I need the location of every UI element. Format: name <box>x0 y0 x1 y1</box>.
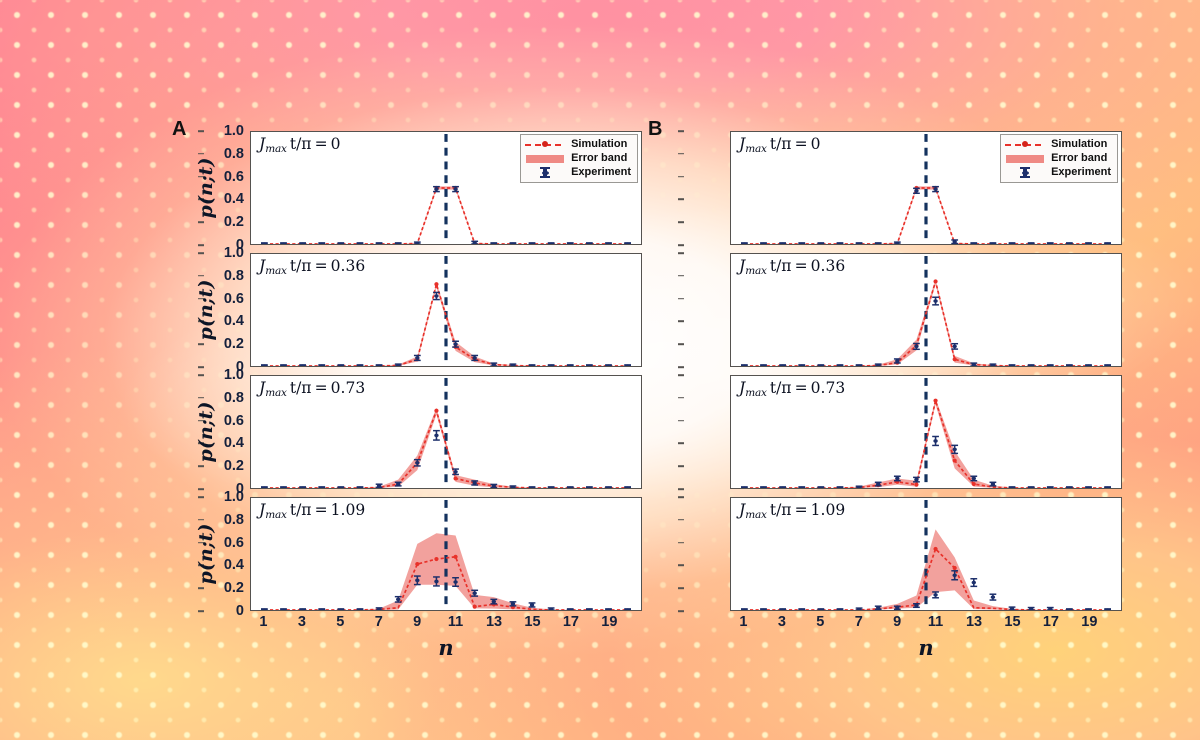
experiment-point <box>605 486 612 488</box>
x-tick-label: 7 <box>855 614 863 630</box>
legend-key-dashed-line-marker <box>525 139 565 150</box>
experiment-point <box>490 242 497 244</box>
experiment-point <box>433 431 440 440</box>
y-tick-label: 0.6 <box>224 291 244 307</box>
x-axis-ticks: 135791113151719 <box>730 611 1122 637</box>
legend-label: Simulation <box>1051 139 1107 150</box>
x-tick-label: 5 <box>336 614 344 630</box>
experiment-point <box>913 477 920 481</box>
experiment-point <box>951 240 958 244</box>
simulation-marker <box>453 476 457 480</box>
experiment-point <box>337 608 344 610</box>
y-axis-label: p(n;t) <box>195 250 217 370</box>
experiment-point <box>741 486 748 488</box>
experiment-point <box>529 364 536 366</box>
experiment-point <box>605 364 612 366</box>
experiment-point <box>856 242 863 244</box>
experiment-point <box>990 242 997 244</box>
experiment-point <box>1066 486 1073 488</box>
y-tick-mark <box>678 397 684 399</box>
panel-column-a: Jmax t/π = 01.00.80.60.40.20p(n;t)Simula… <box>250 131 642 611</box>
y-tick-label: 0 <box>236 603 244 619</box>
experiment-point <box>798 486 805 488</box>
experiment-point <box>1009 486 1016 488</box>
y-tick-label: 0.2 <box>224 336 244 352</box>
experiment-point <box>856 364 863 366</box>
experiment-point <box>548 608 555 610</box>
experiment-point <box>894 476 901 480</box>
simulation-marker <box>953 357 957 361</box>
plot-panel: Jmax t/π = 1.09135791113151719n <box>730 497 1122 611</box>
experiment-point <box>1104 242 1111 244</box>
y-tick-label: 0.2 <box>224 458 244 474</box>
experiment-point <box>337 242 344 244</box>
simulation-marker <box>933 547 937 551</box>
figure-container: A B Jmax t/π = 01.00.80.60.40.20p(n;t)Si… <box>0 0 1200 740</box>
y-tick-mark <box>678 298 684 300</box>
experiment-point <box>567 608 574 610</box>
plot-panel: Jmax t/π = 0SimulationError bandExperime… <box>730 131 1122 245</box>
simulation-marker <box>953 458 957 462</box>
experiment-point <box>624 364 631 366</box>
experiment-point <box>586 364 593 366</box>
experiment-point <box>741 242 748 244</box>
experiment-point <box>970 579 977 587</box>
y-axis-ticks <box>684 253 730 367</box>
plot-axes: Jmax t/π = 0.36 <box>730 253 1122 367</box>
experiment-point <box>357 242 364 244</box>
legend-key-filled-band <box>1005 153 1045 164</box>
x-axis-ticks: 135791113151719 <box>250 611 642 637</box>
experiment-point <box>529 603 536 607</box>
y-axis-ticks <box>684 375 730 489</box>
experiment-point <box>376 242 383 244</box>
legend-label: Error band <box>571 153 627 164</box>
x-tick-label: 19 <box>601 614 617 630</box>
experiment-point <box>875 242 882 244</box>
experiment-point <box>798 364 805 366</box>
experiment-point <box>261 364 268 366</box>
experiment-point <box>1028 364 1035 366</box>
experiment-point <box>357 364 364 366</box>
panel-annotation: Jmax t/π = 0.73 <box>259 379 365 399</box>
simulation-marker <box>434 409 438 413</box>
plot-axes: Jmax t/π = 0.36 <box>250 253 642 367</box>
y-tick-mark <box>678 343 684 345</box>
simulation-marker <box>434 282 438 286</box>
experiment-point <box>357 608 364 610</box>
experiment-point <box>1047 364 1054 366</box>
experiment-point <box>798 242 805 244</box>
experiment-point <box>299 242 306 244</box>
experiment-point <box>1047 486 1054 488</box>
legend-entry: Experiment <box>525 166 631 179</box>
y-tick-label: 0.6 <box>224 535 244 551</box>
x-tick-label: 11 <box>448 614 463 630</box>
simulation-marker <box>914 483 918 487</box>
x-tick-label: 17 <box>1043 614 1059 630</box>
experiment-point <box>1009 364 1016 366</box>
plot-panel: Jmax t/π = 0.36 <box>730 253 1122 367</box>
experiment-point <box>817 364 824 366</box>
y-tick-mark <box>678 610 684 612</box>
x-tick-label: 15 <box>1004 614 1020 630</box>
experiment-point <box>586 242 593 244</box>
y-axis-label: p(n;t) <box>195 372 217 492</box>
experiment-point <box>529 486 536 488</box>
y-tick-label: 0.6 <box>224 413 244 429</box>
legend-entry: Simulation <box>525 138 631 151</box>
y-tick-label: 0.4 <box>224 435 244 451</box>
plot-panel: Jmax t/π = 1.091.00.80.60.40.20p(n;t)135… <box>250 497 642 611</box>
experiment-point <box>779 242 786 244</box>
experiment-point <box>856 608 863 610</box>
y-tick-mark <box>678 420 684 422</box>
y-tick-mark <box>678 321 684 323</box>
experiment-point <box>990 482 997 486</box>
simulation-marker <box>415 562 419 566</box>
legend-label: Error band <box>1051 153 1107 164</box>
y-tick-label: 1.0 <box>224 245 244 261</box>
panel-annotation: Jmax t/π = 0 <box>739 135 821 155</box>
legend-key-errorbar-marker <box>1005 167 1045 178</box>
y-tick-label: 0.4 <box>224 557 244 573</box>
legend-key-errorbar-marker <box>525 167 565 178</box>
simulation-marker <box>434 557 438 561</box>
experiment-point <box>318 486 325 488</box>
experiment-point <box>1028 242 1035 244</box>
experiment-point <box>299 486 306 488</box>
y-tick-mark <box>678 176 684 178</box>
experiment-point <box>1047 607 1054 610</box>
legend-key-dashed-line-marker <box>1005 139 1045 150</box>
x-tick-label: 9 <box>413 614 421 630</box>
legend-entry: Experiment <box>1005 166 1111 179</box>
experiment-point <box>837 242 844 244</box>
y-tick-label: 1.0 <box>224 367 244 383</box>
y-tick-label: 1.0 <box>224 123 244 139</box>
panel-label-a: A <box>172 118 186 141</box>
y-tick-mark <box>678 221 684 223</box>
chart-legend: SimulationError bandExperiment <box>520 134 638 183</box>
panel-label-b: B <box>648 118 662 141</box>
experiment-point <box>471 241 478 244</box>
experiment-point <box>605 242 612 244</box>
experiment-point <box>760 364 767 366</box>
x-tick-label: 1 <box>259 614 267 630</box>
experiment-point <box>1085 242 1092 244</box>
experiment-point <box>837 608 844 610</box>
experiment-point <box>856 486 863 488</box>
y-tick-mark <box>678 275 684 277</box>
experiment-point <box>1104 608 1111 610</box>
legend-label: Experiment <box>1051 167 1111 178</box>
experiment-point <box>567 242 574 244</box>
x-tick-label: 1 <box>739 614 747 630</box>
panel-annotation: Jmax t/π = 0.73 <box>739 379 845 399</box>
experiment-point <box>837 364 844 366</box>
experiment-point <box>261 486 268 488</box>
x-tick-label: 19 <box>1081 614 1097 630</box>
experiment-point <box>567 364 574 366</box>
y-tick-mark <box>678 374 684 376</box>
experiment-point <box>548 486 555 488</box>
y-axis-label: p(n;t) <box>195 128 217 248</box>
y-tick-mark <box>678 488 684 490</box>
experiment-point <box>1104 364 1111 366</box>
experiment-point <box>337 486 344 488</box>
x-tick-label: 7 <box>375 614 383 630</box>
panel-annotation: Jmax t/π = 0.36 <box>739 257 845 277</box>
y-tick-label: 0.8 <box>224 268 244 284</box>
experiment-point <box>970 242 977 244</box>
experiment-point <box>1066 608 1073 610</box>
plot-panel: Jmax t/π = 0.73 <box>730 375 1122 489</box>
simulation-marker <box>933 399 937 403</box>
y-tick-label: 1.0 <box>224 489 244 505</box>
chart-legend: SimulationError bandExperiment <box>1000 134 1118 183</box>
legend-label: Simulation <box>571 139 627 150</box>
x-tick-label: 3 <box>778 614 786 630</box>
legend-label: Experiment <box>571 167 631 178</box>
plot-axes: Jmax t/π = 1.09 <box>250 497 642 611</box>
y-tick-label: 0.4 <box>224 313 244 329</box>
y-tick-mark <box>678 130 684 132</box>
simulation-marker <box>473 605 477 609</box>
y-tick-mark <box>678 366 684 368</box>
y-axis-ticks <box>684 497 730 611</box>
experiment-point <box>1085 608 1092 610</box>
y-axis-label: p(n;t) <box>195 494 217 614</box>
x-tick-label: 17 <box>563 614 579 630</box>
experiment-point <box>760 608 767 610</box>
simulation-marker <box>933 279 937 283</box>
panel-annotation: Jmax t/π = 1.09 <box>739 501 845 521</box>
y-tick-mark <box>678 465 684 467</box>
experiment-point <box>318 364 325 366</box>
experiment-point <box>1085 486 1092 488</box>
experiment-point <box>798 608 805 610</box>
experiment-point <box>567 486 574 488</box>
experiment-point <box>624 242 631 244</box>
simulation-marker <box>453 555 457 559</box>
experiment-point <box>280 608 287 610</box>
x-tick-label: 11 <box>928 614 943 630</box>
experiment-point <box>817 486 824 488</box>
experiment-point <box>779 364 786 366</box>
experiment-point <box>318 242 325 244</box>
experiment-point <box>261 242 268 244</box>
experiment-point <box>318 608 325 610</box>
experiment-point <box>760 242 767 244</box>
experiment-point <box>586 486 593 488</box>
y-tick-mark <box>678 496 684 498</box>
y-tick-mark <box>678 542 684 544</box>
y-tick-label: 0.4 <box>224 191 244 207</box>
x-tick-label: 13 <box>966 614 982 630</box>
experiment-point <box>817 242 824 244</box>
experiment-point <box>357 486 364 488</box>
y-tick-label: 0.2 <box>224 580 244 596</box>
y-tick-mark <box>678 244 684 246</box>
experiment-point <box>1028 486 1035 488</box>
experiment-point <box>586 608 593 610</box>
y-axis-ticks <box>684 131 730 245</box>
experiment-point <box>1085 364 1092 366</box>
experiment-point <box>1104 486 1111 488</box>
experiment-point <box>376 364 383 366</box>
y-tick-mark <box>678 153 684 155</box>
legend-entry: Error band <box>1005 152 1111 165</box>
panel-column-b: Jmax t/π = 0SimulationError bandExperime… <box>730 131 1122 611</box>
experiment-point <box>299 364 306 366</box>
panel-annotation: Jmax t/π = 0.36 <box>259 257 365 277</box>
experiment-point <box>837 486 844 488</box>
plot-axes: Jmax t/π = 1.09 <box>730 497 1122 611</box>
experiment-point <box>624 608 631 610</box>
legend-entry: Simulation <box>1005 138 1111 151</box>
experiment-point <box>990 594 997 600</box>
experiment-point <box>337 364 344 366</box>
experiment-point <box>261 608 268 610</box>
plot-panel: Jmax t/π = 01.00.80.60.40.20p(n;t)Simula… <box>250 131 642 245</box>
plot-panel: Jmax t/π = 0.731.00.80.60.40.20p(n;t) <box>250 375 642 489</box>
y-tick-label: 0.8 <box>224 146 244 162</box>
x-tick-label: 5 <box>816 614 824 630</box>
y-tick-mark <box>678 199 684 201</box>
experiment-point <box>817 608 824 610</box>
experiment-point <box>299 608 306 610</box>
experiment-point <box>741 608 748 610</box>
plot-axes: Jmax t/π = 0.73 <box>730 375 1122 489</box>
y-tick-label: 0.6 <box>224 169 244 185</box>
y-tick-mark <box>678 252 684 254</box>
experiment-point <box>1066 364 1073 366</box>
experiment-point <box>779 486 786 488</box>
experiment-point <box>779 608 786 610</box>
simulation-marker <box>972 482 976 486</box>
experiment-point <box>760 486 767 488</box>
experiment-point <box>1047 242 1054 244</box>
x-tick-label: 9 <box>893 614 901 630</box>
experiment-point <box>624 486 631 488</box>
experiment-point <box>510 242 517 244</box>
experiment-point <box>548 364 555 366</box>
y-tick-label: 0.8 <box>224 512 244 528</box>
y-tick-mark <box>678 443 684 445</box>
y-tick-mark <box>678 519 684 521</box>
experiment-point <box>605 608 612 610</box>
experiment-point <box>376 484 383 487</box>
experiment-point <box>932 436 939 445</box>
legend-key-filled-band <box>525 153 565 164</box>
panel-annotation: Jmax t/π = 0 <box>259 135 341 155</box>
experiment-point <box>1009 242 1016 244</box>
simulation-marker <box>953 566 957 570</box>
experiment-point <box>1066 242 1073 244</box>
experiment-point <box>395 242 402 244</box>
y-tick-mark <box>678 565 684 567</box>
experiment-point <box>529 242 536 244</box>
legend-entry: Error band <box>525 152 631 165</box>
y-tick-mark <box>678 587 684 589</box>
plot-axes: Jmax t/π = 0.73 <box>250 375 642 489</box>
experiment-point <box>280 364 287 366</box>
experiment-point <box>1028 607 1035 610</box>
x-axis-label: n <box>730 635 1122 660</box>
x-tick-label: 13 <box>486 614 502 630</box>
panel-annotation: Jmax t/π = 1.09 <box>259 501 365 521</box>
x-tick-label: 15 <box>524 614 540 630</box>
experiment-point <box>1009 607 1016 610</box>
x-axis-label: n <box>250 635 642 660</box>
experiment-point <box>932 297 939 305</box>
experiment-point <box>280 486 287 488</box>
plot-panel: Jmax t/π = 0.361.00.80.60.40.20p(n;t) <box>250 253 642 367</box>
y-tick-label: 0.8 <box>224 390 244 406</box>
x-tick-label: 3 <box>298 614 306 630</box>
experiment-point <box>280 242 287 244</box>
experiment-point <box>741 364 748 366</box>
y-tick-label: 0.2 <box>224 214 244 230</box>
experiment-point <box>548 242 555 244</box>
